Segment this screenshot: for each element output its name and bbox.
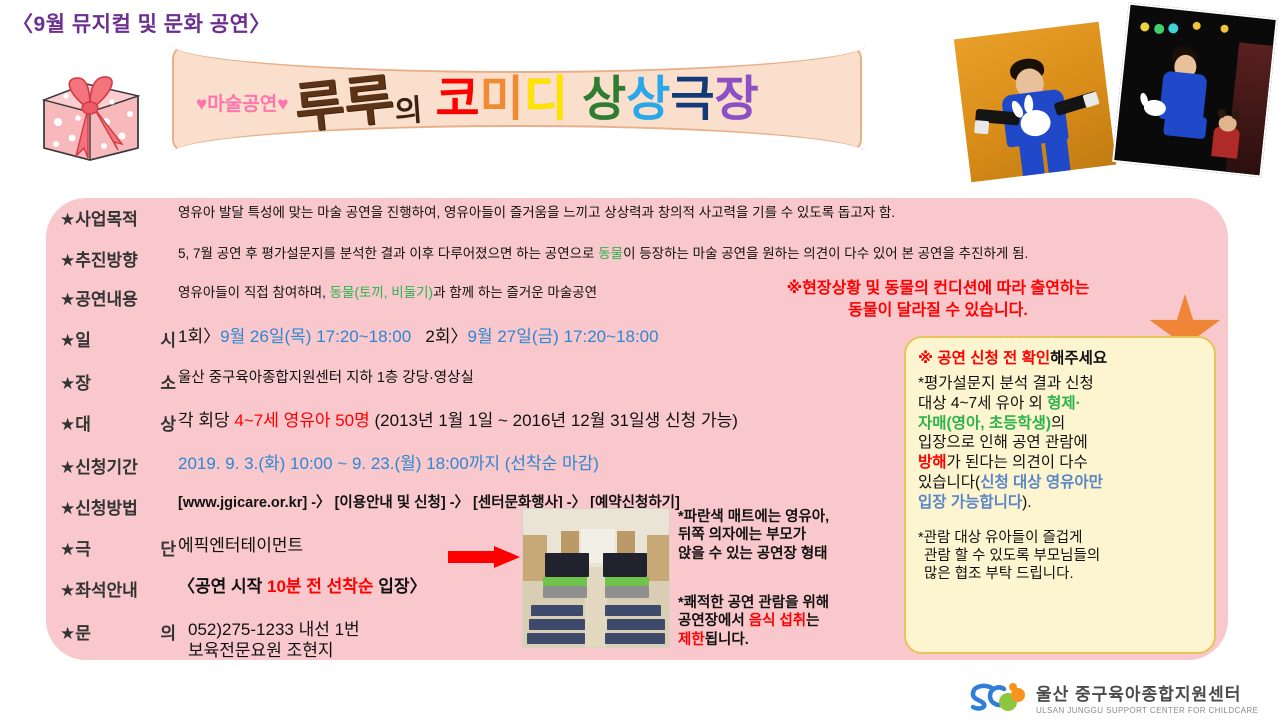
label-troupe: ★극 단: [60, 535, 178, 560]
magic-show-tag: ♥마술공연♥: [196, 89, 288, 116]
ybox-p1-green: 형제·: [1047, 395, 1081, 412]
food-restriction-note: *쾌적한 공연 관람을 위해 공연장에서 음식 섭취는 제한됩니다.: [678, 594, 902, 649]
label-direction: ★추진방향: [60, 246, 178, 271]
label-target-a: ★대: [60, 410, 91, 435]
ybox-p1-blue: 신청 대상 영유아만: [980, 474, 1103, 491]
ybox-p1a: *평가설문지 분석 결과 신청: [918, 375, 1094, 392]
title-char-sang1: 상: [582, 76, 626, 124]
inquiry-staff: 보육전문요원 조현지: [188, 640, 360, 661]
value-datetime: 1회〉9월 26일(목) 17:20~18:00 2회〉9월 27일(금) 17…: [178, 326, 659, 347]
ybox-title-highlight: ※ 공연 신청 전 확인: [918, 350, 1050, 367]
animal-note-line1: ※현장상황 및 동물의 컨디션에 따라 출연하는: [728, 278, 1148, 300]
performer-photo-orange: [952, 19, 1119, 184]
row-direction: ★추진방향 5, 7월 공연 후 평가설문지를 분석한 결과 이후 다루어졌으면…: [60, 246, 1250, 282]
label-datetime: ★일 시: [60, 326, 178, 351]
seating-layout-note: *파란색 매트에는 영유아, 뒤쪽 의자에는 부모가 앉을 수 있는 공연장 형…: [678, 508, 902, 563]
seating-note-line2: 뒤쪽 의자에는 부모가: [678, 526, 902, 544]
page-title: 〈9월 뮤지컬 및 문화 공연〉: [12, 8, 271, 38]
center-logo-icon: [968, 680, 1028, 714]
food-note-line2b: 는: [806, 613, 819, 629]
ybox-p1f: 있습니다(: [918, 474, 980, 491]
label-inquiry-b: 의: [160, 619, 176, 644]
title-char-geuk: 극: [670, 76, 714, 124]
label-inquiry-a: ★문: [60, 619, 91, 644]
label-seating: ★좌석안내: [60, 576, 178, 601]
label-datetime-b: 시: [160, 326, 176, 351]
title-char-di: 디: [524, 76, 568, 124]
ybox-p1-red: 방해: [918, 454, 947, 471]
content-text-1: 영유아들이 직접 참여하며,: [178, 285, 330, 300]
value-seating: 〈공연 시작 10분 전 선착순 입장〉: [178, 576, 427, 597]
poster-root: 〈9월 뮤지컬 및 문화 공연〉 ♥마술공연♥ 루루: [0, 0, 1280, 720]
title-char-jang: 장: [715, 76, 759, 124]
label-troupe-a: ★극: [60, 535, 91, 560]
target-suffix: (2013년 1월 1일 ~ 2016년 12월 31일생 신청 가능): [370, 411, 738, 430]
value-purpose: 영유아 발달 특성에 맞는 마술 공연을 진행하여, 영유아들이 즐거움을 느끼…: [178, 205, 895, 222]
ybox-p1g: ).: [1022, 494, 1031, 511]
ybox-title: ※ 공연 신청 전 확인해주세요: [918, 346, 1204, 368]
title-char-sang2: 상: [626, 76, 670, 124]
ybox-title-rest: 해주세요: [1050, 350, 1107, 367]
banner-main-title: 루루 의 코 미 디 상 상 극 장: [294, 73, 758, 127]
ybox-p1c: 의: [1051, 415, 1065, 432]
ybox-p2-line1: *관람 대상 유아들이 즐겁게: [918, 530, 1082, 546]
title-char-ruru: 루루: [292, 72, 396, 136]
ybox-p2-line3: 많은 협조 부탁 드립니다.: [924, 566, 1074, 582]
ybox-p1-green2: 자매(영아, 초등학생): [918, 415, 1051, 432]
food-note-line2a: 공연장에서: [678, 613, 749, 629]
ybox-p1-blue2: 입장 가능합니다: [918, 494, 1022, 511]
animal-condition-note: ※현장상황 및 동물의 컨디션에 따라 출연하는 동물이 달라질 수 있습니다.: [728, 278, 1148, 321]
food-note-line2: 공연장에서 음식 섭취는: [678, 612, 902, 630]
label-place: ★장 소: [60, 369, 178, 394]
inquiry-phone: 052)275-1233 내선 1번: [188, 619, 360, 640]
label-place-b: 소: [160, 369, 176, 394]
title-char-mi: 미: [480, 76, 524, 124]
value-target: 각 회당 4~7세 영유아 50명 (2013년 1월 1일 ~ 2016년 1…: [178, 410, 738, 431]
row-purpose: ★사업목적 영유아 발달 특성에 맞는 마술 공연을 진행하여, 영유아들이 즐…: [60, 205, 1250, 243]
seating-note-line3: 앉을 수 있는 공연장 형태: [678, 545, 902, 563]
footer-logo-kr: 울산 중구육아종합지원센터: [1036, 680, 1258, 705]
direction-text-1: 5, 7월 공연 후 평가설문지를 분석한 결과 이후 다루어졌으면 하는 공연…: [178, 246, 598, 261]
content-text-2: 과 함께 하는 즐거운 마술공연: [433, 285, 597, 300]
title-char-ko: 코: [435, 76, 479, 124]
value-content: 영유아들이 직접 참여하며, 동물(토끼, 비둘기)과 함께 하는 즐거운 마술…: [178, 285, 597, 302]
food-note-line3: 제한됩니다.: [678, 631, 902, 649]
label-datetime-a: ★일: [60, 326, 91, 351]
footer-logo-text: 울산 중구육아종합지원센터 ULSAN JUNGGU SUPPORT CENTE…: [1036, 680, 1258, 715]
label-inquiry: ★문 의: [60, 619, 178, 644]
seating-suffix: 입장〉: [374, 577, 427, 596]
label-content: ★공연내용: [60, 285, 178, 310]
label-place-a: ★장: [60, 369, 91, 394]
target-highlight: 4~7세 영유아 50명: [234, 411, 369, 430]
label-period: ★신청기간: [60, 453, 178, 478]
ybox-p1e: 가 된다는 의견이 다수: [947, 454, 1088, 471]
label-target-b: 상: [160, 410, 176, 435]
seating-highlight: 10분 전 선착순: [267, 577, 374, 596]
animal-note-line2: 동물이 달라질 수 있습니다.: [728, 300, 1148, 322]
food-note-red: 음식 섭취: [749, 613, 806, 629]
value-direction: 5, 7월 공연 후 평가설문지를 분석한 결과 이후 다루어졌으면 하는 공연…: [178, 246, 1028, 263]
value-inquiry: 052)275-1233 내선 1번 보육전문요원 조현지: [178, 619, 360, 662]
pre-application-notice-box: ※ 공연 신청 전 확인해주세요 *평가설문지 분석 결과 신청 대상 4~7세…: [904, 336, 1216, 654]
label-method: ★신청방법: [60, 494, 178, 519]
ybox-p1d: 입장으로 인해 공연 관람에: [918, 434, 1088, 451]
content-highlight: 동물(토끼, 비둘기): [330, 285, 433, 300]
footer-logo-en: ULSAN JUNGGU SUPPORT CENTER FOR CHILDCAR…: [1036, 706, 1258, 715]
ybox-paragraph-2: *관람 대상 유아들이 즐겁게 관람 할 수 있도록 부모님들의 많은 협조 부…: [918, 529, 1204, 583]
round2-date: 9월 27일(금): [467, 327, 558, 346]
right-arrow-icon: [448, 546, 520, 568]
venue-photo: [522, 508, 670, 648]
seating-note-line1: *파란색 매트에는 영유아,: [678, 508, 902, 526]
value-period: 2019. 9. 3.(화) 10:00 ~ 9. 23.(월) 18:00까지…: [178, 453, 599, 474]
title-banner: ♥마술공연♥ 루루 의 코 미 디 상 상 극 장: [172, 45, 862, 153]
direction-text-2: 이 등장하는 마술 공연을 원하는 의견이 다수 있어 본 공연을 추진하게 됨…: [623, 246, 1028, 261]
round2-label: 2회〉: [425, 327, 467, 346]
food-note-line1: *쾌적한 공연 관람을 위해: [678, 594, 902, 612]
label-troupe-b: 단: [160, 535, 176, 560]
round2-time: 17:20~18:00: [564, 327, 659, 346]
label-purpose: ★사업목적: [60, 205, 178, 230]
performer-photo-stage: [1112, 3, 1278, 178]
round1-label: 1회〉: [178, 327, 220, 346]
ybox-p1b: 대상 4~7세 유아 외: [918, 395, 1047, 412]
seating-prefix: 〈공연 시작: [178, 577, 267, 596]
target-prefix: 각 회당: [178, 411, 234, 430]
direction-highlight: 동물: [598, 246, 623, 261]
ybox-paragraph-1: *평가설문지 분석 결과 신청 대상 4~7세 유아 외 형제· 자매(영아, …: [918, 374, 1204, 513]
label-target: ★대 상: [60, 410, 178, 435]
round1-date: 9월 26일(목): [220, 327, 311, 346]
food-note-red2: 제한: [678, 632, 705, 648]
footer-logo: 울산 중구육아종합지원센터 ULSAN JUNGGU SUPPORT CENTE…: [968, 678, 1268, 716]
gift-box-icon: [26, 52, 146, 162]
round1-time: 17:20~18:00: [316, 327, 411, 346]
ybox-p2-line2: 관람 할 수 있도록 부모님들의: [924, 548, 1100, 564]
food-note-line3-rest: 됩니다.: [705, 632, 749, 648]
value-troupe: 에픽엔터테이먼트: [178, 535, 303, 556]
title-char-ui: 의: [394, 96, 424, 128]
value-place: 울산 중구육아종합지원센터 지하 1층 강당·영상실: [178, 369, 474, 387]
